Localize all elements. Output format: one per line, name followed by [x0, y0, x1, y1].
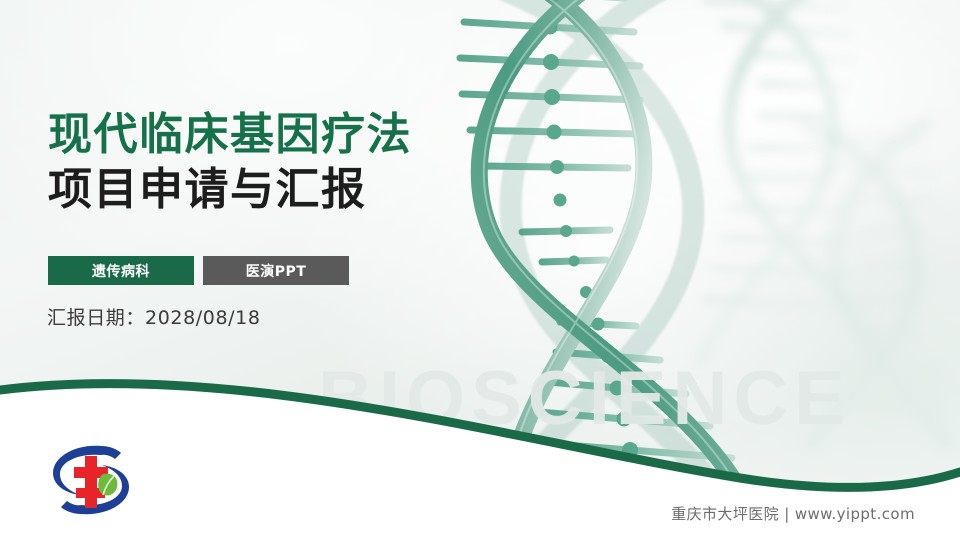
hospital-logo — [47, 440, 135, 520]
report-date: 汇报日期：2028/08/18 — [47, 303, 261, 330]
title-line-1: 现代临床基因疗法 — [48, 108, 568, 163]
page-title: 现代临床基因疗法 项目申请与汇报 — [48, 108, 568, 217]
badge-template[interactable]: 医演PPT — [203, 256, 349, 285]
presentation-title-slide: BIOSCIENCE 现代临床基因疗法 项目申请与汇报 遗传病科 医演PPT 汇… — [0, 0, 960, 540]
footer-credit: 重庆市大坪医院 | www.yippt.com — [671, 503, 915, 524]
logo-ring-tip-bottom — [61, 501, 81, 514]
logo-ring-tip-top — [101, 446, 121, 459]
badge-group: 遗传病科 医演PPT — [48, 256, 349, 285]
badge-department[interactable]: 遗传病科 — [48, 256, 194, 285]
title-line-2: 项目申请与汇报 — [48, 163, 568, 218]
